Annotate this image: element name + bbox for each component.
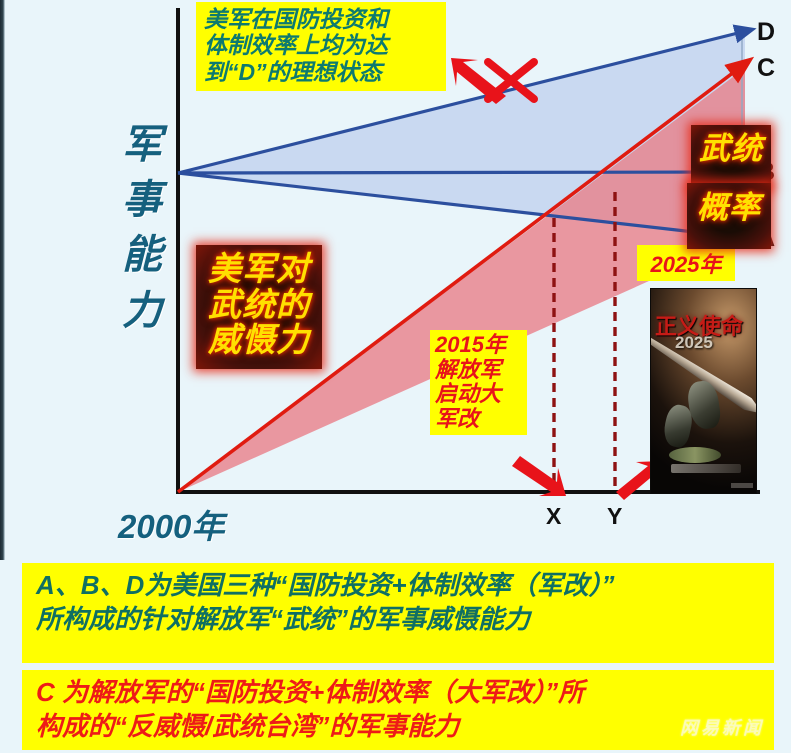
box-us-deterrence-line-3: 威慑力	[196, 322, 322, 358]
caption-c-line-2: 构成的“反威慑/武统台湾”的军事能力	[36, 710, 766, 744]
box-unification-probability-line1: 武统	[691, 125, 771, 189]
y-axis-label-char-3: 能	[114, 228, 170, 283]
note-2025-year: 2025年	[637, 245, 735, 281]
box-unification-probability-line2: 概率	[687, 183, 771, 249]
poster-footer-text	[671, 464, 741, 473]
caption-c-line-1: C 为解放军的“国防投资+体制效率（大军改）”所	[36, 676, 766, 710]
x-axis-label: 2000年	[118, 500, 224, 548]
note-top-line-2: 体制效率上均为达	[204, 32, 440, 58]
note-top-line-3: 到“D”的理想状态	[204, 59, 440, 85]
note-2015-line-2: 解放军	[435, 358, 522, 383]
caption-abd: A、B、D为美国三种“国防投资+体制效率（军改）” 所构成的针对解放军“武统”的…	[22, 563, 774, 663]
tick-label-y: Y	[607, 503, 622, 530]
box-us-deterrence-line-2: 武统的	[196, 287, 322, 323]
movie-poster-image: 正义使命 2025	[650, 288, 757, 494]
endpoint-label-d: D	[757, 18, 775, 47]
caption-abd-line-1: A、B、D为美国三种“国防投资+体制效率（军改）”	[36, 569, 766, 603]
note-2015-line-4: 军改	[435, 407, 522, 432]
tick-label-x: X	[546, 503, 561, 530]
y-axis-label-char-2: 事	[114, 173, 170, 228]
endpoint-label-c: C	[757, 54, 775, 83]
note-top-ideal-state: 美军在国防投资和 体制效率上均为达 到“D”的理想状态	[196, 2, 446, 91]
box-us-deterrence-line-1: 美军对	[196, 251, 322, 287]
terrain-graphic	[669, 447, 721, 463]
caption-c: C 为解放军的“国防投资+体制效率（大军改）”所 构成的“反威慑/武统台湾”的军…	[22, 670, 774, 750]
note-top-line-1: 美军在国防投资和	[204, 6, 440, 32]
poster-year: 2025	[675, 333, 713, 353]
note-2015-line-1: 2015年	[435, 333, 522, 358]
y-axis-label-char-1: 军	[114, 118, 170, 173]
caption-abd-line-2: 所构成的针对解放军“武统”的军事威慑能力	[36, 603, 766, 637]
y-axis-label: 军 事 能 力	[114, 118, 170, 339]
note-2015-military-reform: 2015年 解放军 启动大 军改	[430, 330, 527, 435]
y-axis-label-char-4: 力	[114, 284, 170, 339]
series-line-b	[178, 172, 738, 173]
note-2015-line-3: 启动大	[435, 382, 522, 407]
poster-corner-mark	[731, 483, 753, 488]
box-us-deterrence: 美军对 武统的 威慑力	[196, 245, 322, 369]
infographic-root: 军 事 能 力 2000年 D C B A X Y 美军在国防投资和 体制效率上…	[0, 0, 791, 753]
